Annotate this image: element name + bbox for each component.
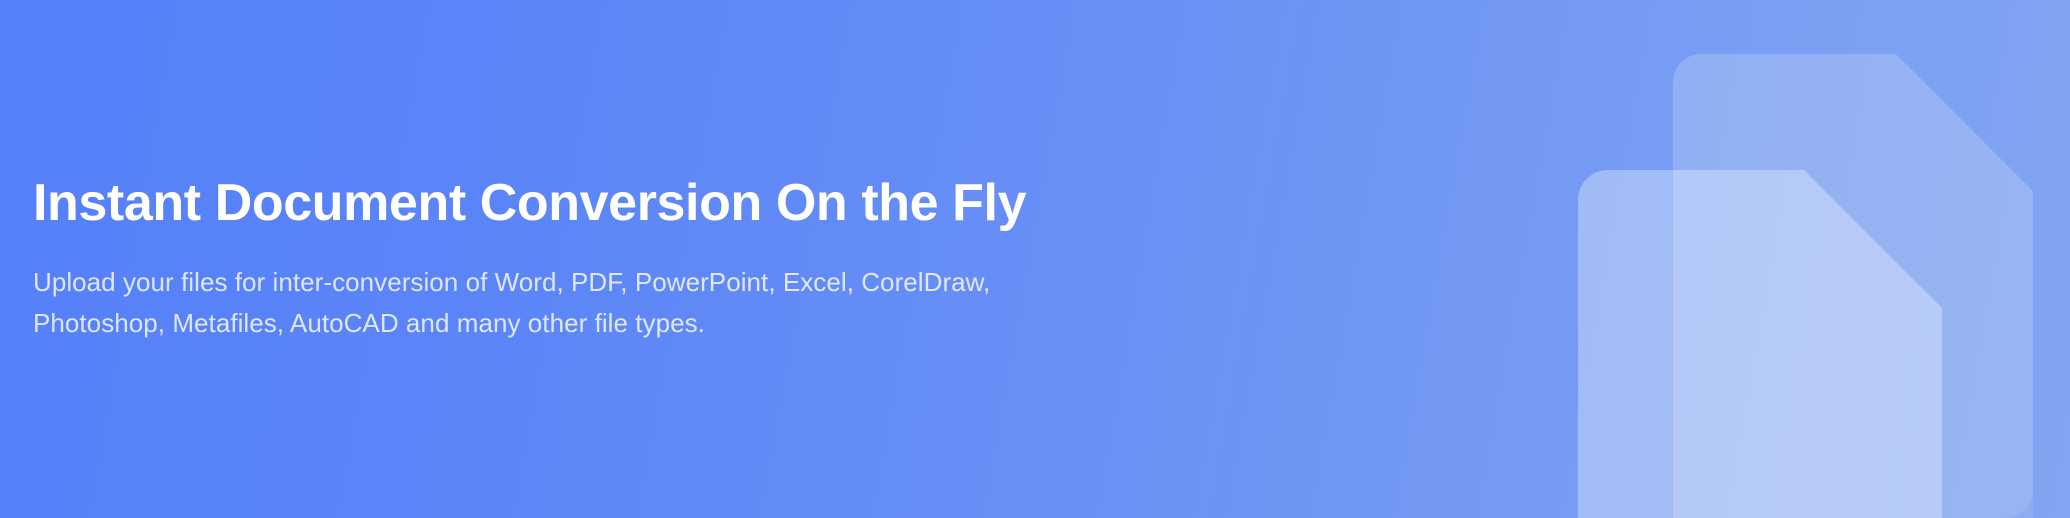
hero-subtitle-line-2: Photoshop, Metafiles, AutoCAD and many o… xyxy=(33,303,1073,344)
front-document-icon xyxy=(1578,170,1942,518)
hero-subtitle-line-1: Upload your files for inter-conversion o… xyxy=(33,262,1073,303)
hero-subtitle: Upload your files for inter-conversion o… xyxy=(33,262,1073,344)
document-stack-illustration xyxy=(1510,0,2070,518)
hero-copy: Instant Document Conversion On the Fly U… xyxy=(33,0,1153,518)
back-document-icon xyxy=(1673,54,2033,518)
page-title: Instant Document Conversion On the Fly xyxy=(33,174,1153,232)
hero-banner: Instant Document Conversion On the Fly U… xyxy=(0,0,2070,518)
